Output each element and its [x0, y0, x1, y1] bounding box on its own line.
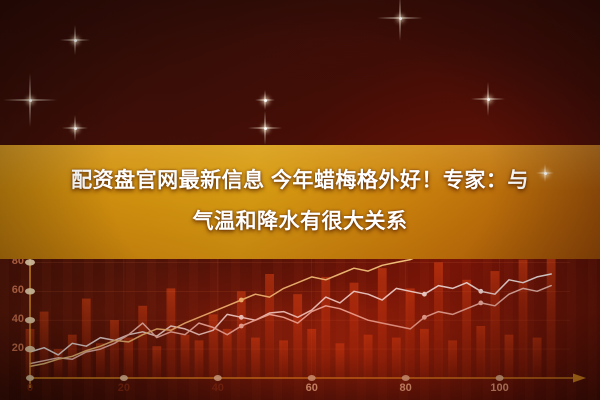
x-axis-tick-label: 60	[292, 382, 332, 394]
page-title: 配资盘官网最新信息 今年蜡梅格外好！专家：与 气温和降水有很大关系	[0, 160, 600, 242]
x-axis-tick-label: 0	[10, 382, 50, 394]
background-stripes	[0, 258, 600, 400]
y-axis-tick-label: 60	[0, 284, 24, 296]
headline-line-2: 气温和降水有很大关系	[0, 201, 600, 242]
y-axis-tick-label: 40	[0, 313, 24, 325]
article-thumbnail-image: 20406080100 020406080100 配资盘官网最新信息 今年蜡梅格…	[0, 0, 600, 400]
x-axis-tick-label: 40	[198, 382, 238, 394]
headline-line-1: 配资盘官网最新信息 今年蜡梅格外好！专家：与	[71, 169, 529, 192]
x-axis-tick-label: 80	[386, 382, 426, 394]
y-axis-tick-label: 20	[0, 342, 24, 354]
x-axis-tick-label: 100	[480, 382, 520, 394]
x-axis-tick-label: 20	[104, 382, 144, 394]
